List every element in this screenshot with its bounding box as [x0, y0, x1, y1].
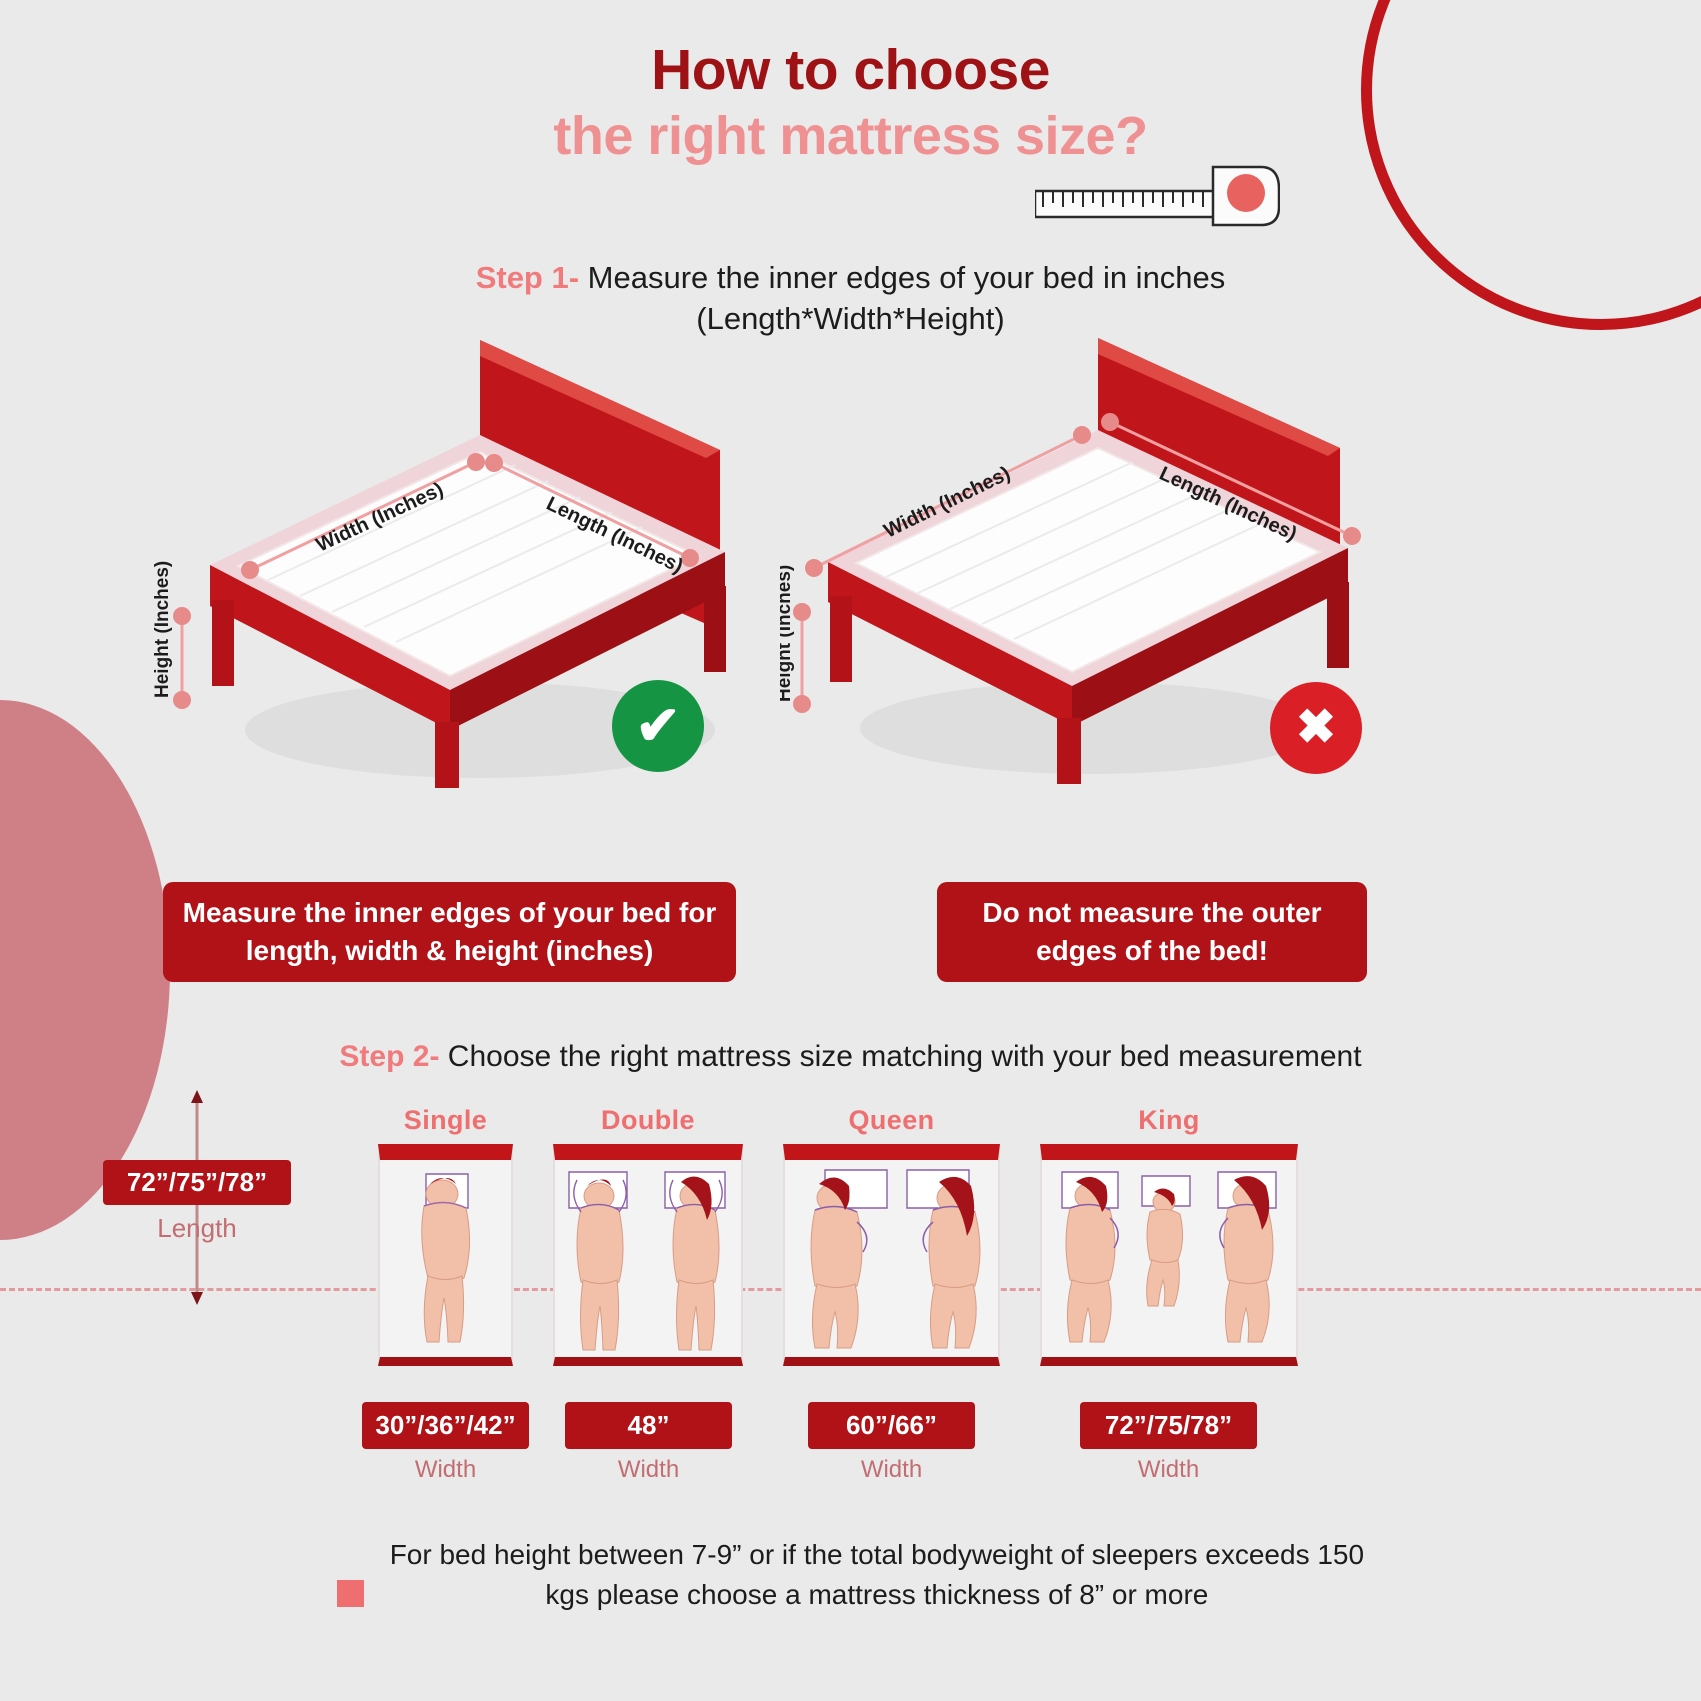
width-caption-king: Width	[1080, 1456, 1257, 1484]
size-name-queen: Queen	[783, 1105, 1000, 1136]
mattress-double	[553, 1144, 743, 1366]
step-1-text: Measure the inner edges of your bed in i…	[588, 260, 1226, 295]
size-column-queen[interactable]: Queen	[783, 1105, 1000, 1366]
check-glyph: ✔	[635, 699, 680, 753]
sleeper-illustration-single	[380, 1160, 511, 1357]
width-chip-single: 30”/36”/42”	[362, 1402, 529, 1449]
width-caption-queen: Width	[808, 1456, 975, 1484]
step-1-instruction: Step 1- Measure the inner edges of your …	[0, 258, 1701, 340]
size-column-single[interactable]: Single	[378, 1105, 513, 1366]
step-2-instruction: Step 2- Choose the right mattress size m…	[0, 1040, 1701, 1074]
size-name-king: King	[1040, 1105, 1298, 1136]
sleeper-illustration-double	[555, 1160, 741, 1357]
infographic-page: How to choose the right mattress size?	[0, 0, 1701, 1701]
footnote-line-2: kgs please choose a mattress thickness o…	[545, 1579, 1208, 1610]
callout-correct: Measure the inner edges of your bed for …	[163, 882, 736, 982]
size-name-single: Single	[378, 1105, 513, 1136]
step-2-tag: Step 2-	[339, 1040, 439, 1073]
sleeper-illustration-queen	[785, 1160, 998, 1357]
mattress-king	[1040, 1144, 1298, 1366]
width-chip-double: 48”	[565, 1402, 732, 1449]
bed-left-height-label: Height (Inches)	[152, 561, 173, 698]
step-2-text: Choose the right mattress size matching …	[448, 1040, 1362, 1073]
page-title: How to choose the right mattress size?	[0, 38, 1701, 168]
callout-incorrect: Do not measure the outer edges of the be…	[937, 882, 1367, 982]
footnote: For bed height between 7-9” or if the to…	[0, 1535, 1701, 1615]
width-caption-single: Width	[362, 1456, 529, 1484]
bed-right-height-label: Height (Inches)	[780, 565, 795, 702]
width-chip-queen: 60”/66”	[808, 1402, 975, 1449]
size-column-double[interactable]: Double	[553, 1105, 743, 1366]
title-line-2: the right mattress size?	[0, 104, 1701, 169]
bed-diagrams: Width (Inches) Length (Inches) Height (I…	[0, 330, 1701, 800]
cross-icon: ✖	[1270, 682, 1362, 774]
mattress-size-columns: Single Double	[0, 1105, 1701, 1445]
width-chip-king: 72”/75/78”	[1080, 1402, 1257, 1449]
mattress-queen	[783, 1144, 1000, 1366]
check-icon: ✔	[612, 680, 704, 772]
title-line-1: How to choose	[0, 38, 1701, 104]
size-name-double: Double	[553, 1105, 743, 1136]
size-column-king[interactable]: King	[1040, 1105, 1298, 1366]
footnote-square-icon	[337, 1580, 364, 1607]
measuring-tape-icon	[1035, 155, 1280, 235]
cross-glyph: ✖	[1296, 704, 1336, 752]
width-caption-double: Width	[565, 1456, 732, 1484]
footnote-line-1: For bed height between 7-9” or if the to…	[390, 1539, 1364, 1570]
step-1-tag: Step 1-	[476, 260, 579, 295]
sleeper-illustration-king	[1042, 1160, 1296, 1357]
mattress-single	[378, 1144, 513, 1366]
